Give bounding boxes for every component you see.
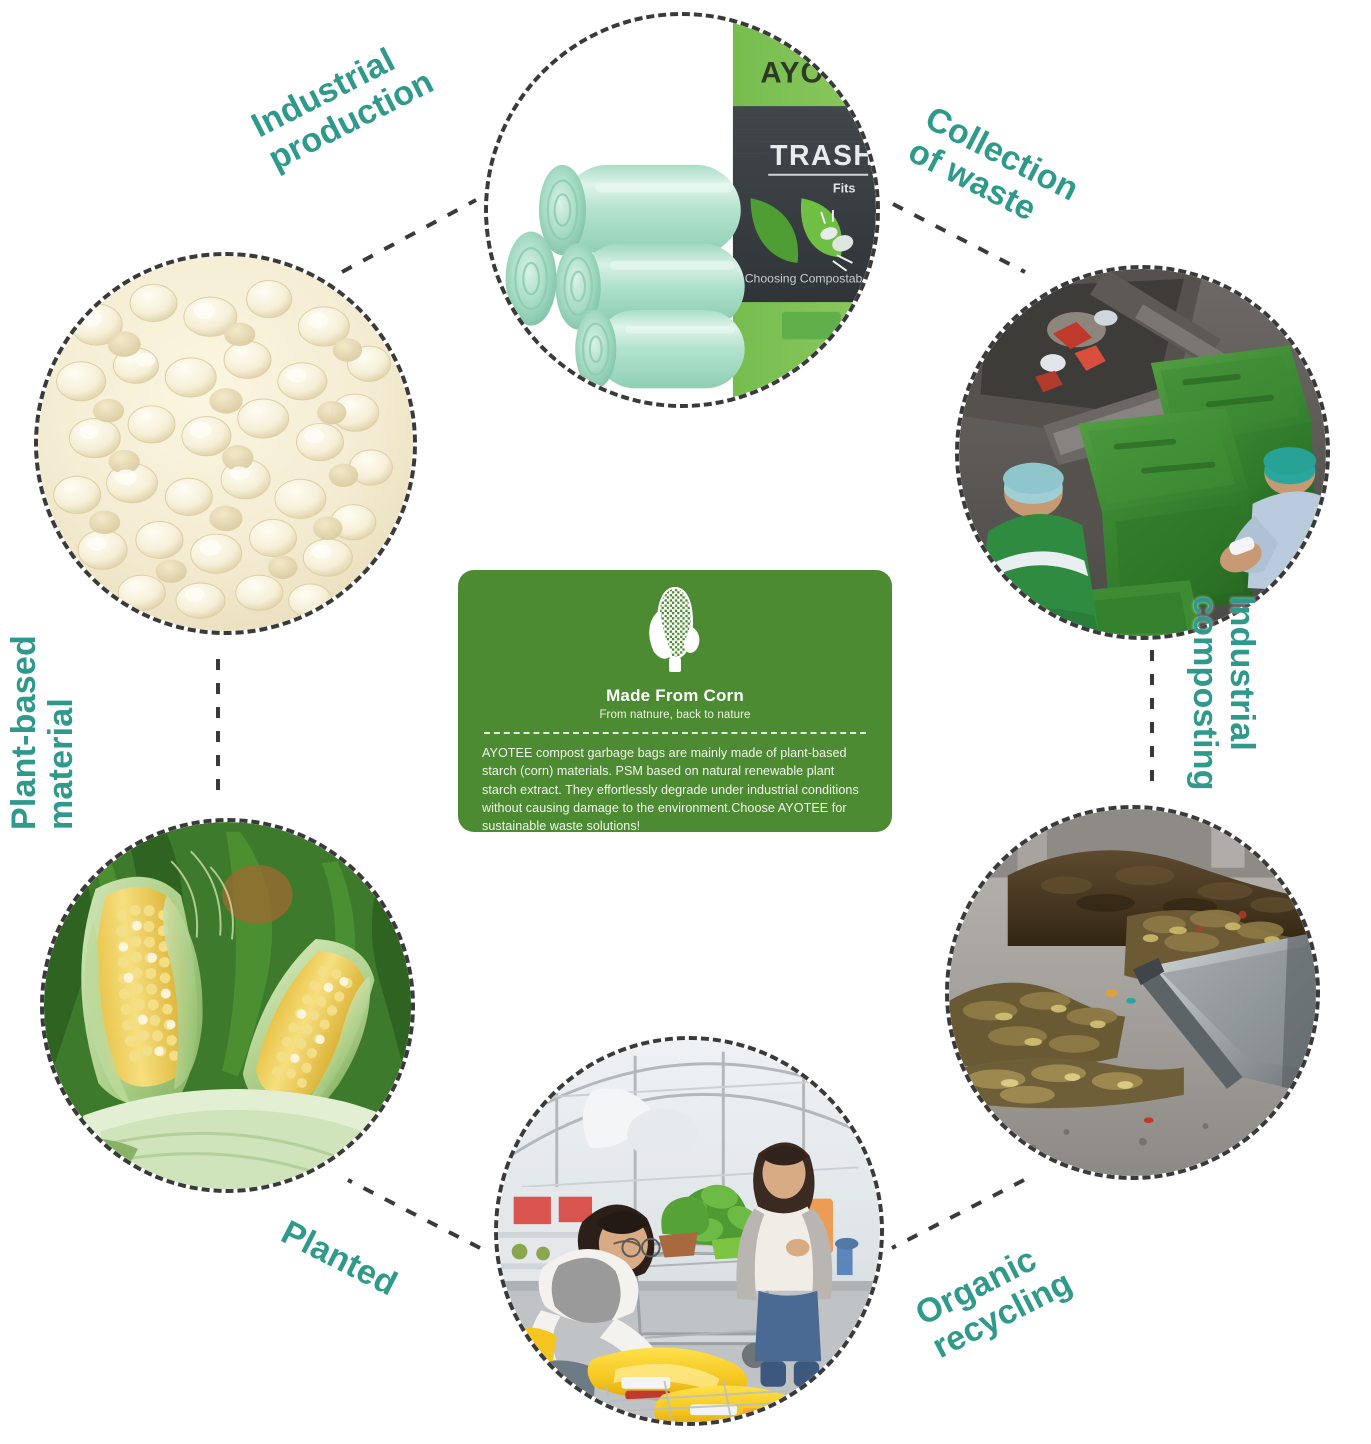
composting-photo [949, 809, 1316, 1176]
waste-collection-photo [959, 269, 1326, 636]
corn-cob-icon [482, 586, 868, 682]
stage-node-collection-of-waste [955, 265, 1330, 640]
stage-node-industrial-production: AYO TRASH Fits Cho [484, 12, 880, 408]
svg-text:AYO: AYO [760, 57, 824, 90]
bag-rolls [506, 165, 745, 388]
stage-label-plant-based-material: Plant-based material [6, 635, 79, 830]
product-box: AYO TRASH Fits Cho [733, 16, 876, 404]
made-from-corn-card: Made From Corn From natnure, back to nat… [458, 570, 892, 832]
stage-label-industrial-composting: Industrial composting [1187, 596, 1260, 791]
stage-node-organic-recycling [494, 1036, 884, 1426]
card-body-text: AYOTEE compost garbage bags are mainly m… [482, 744, 868, 835]
trash-bag-product-photo: AYO TRASH Fits Cho [488, 16, 876, 404]
svg-text:Fits: Fits [833, 180, 856, 195]
connector-pellets-to-production [342, 200, 476, 272]
stage-label-organic-recycling: Organic recycling [910, 1231, 1078, 1365]
svg-text:TRASH: TRASH [770, 140, 875, 172]
connector-composting-to-recycling [892, 1180, 1024, 1248]
connector-recycling-to-planted [348, 1180, 480, 1248]
stage-node-industrial-composting [945, 805, 1320, 1180]
lifecycle-infographic: AYO TRASH Fits Cho [0, 0, 1371, 1444]
stage-node-plant-based-material [34, 252, 417, 635]
svg-text:Choosing Compostab: Choosing Compostab [745, 272, 863, 286]
stage-label-planted: Planted [275, 1214, 402, 1303]
card-divider [484, 732, 866, 734]
stage-label-collection-of-waste: Collection of waste [903, 100, 1085, 241]
card-subtitle: From natnure, back to nature [482, 709, 868, 721]
card-title: Made From Corn [482, 686, 868, 706]
stage-label-industrial-production: Industrial production [246, 30, 439, 177]
pellets-photo [38, 256, 413, 631]
garden-centre-photo [498, 1040, 880, 1422]
corn-field-photo [44, 822, 411, 1189]
stage-node-planted [40, 818, 415, 1193]
